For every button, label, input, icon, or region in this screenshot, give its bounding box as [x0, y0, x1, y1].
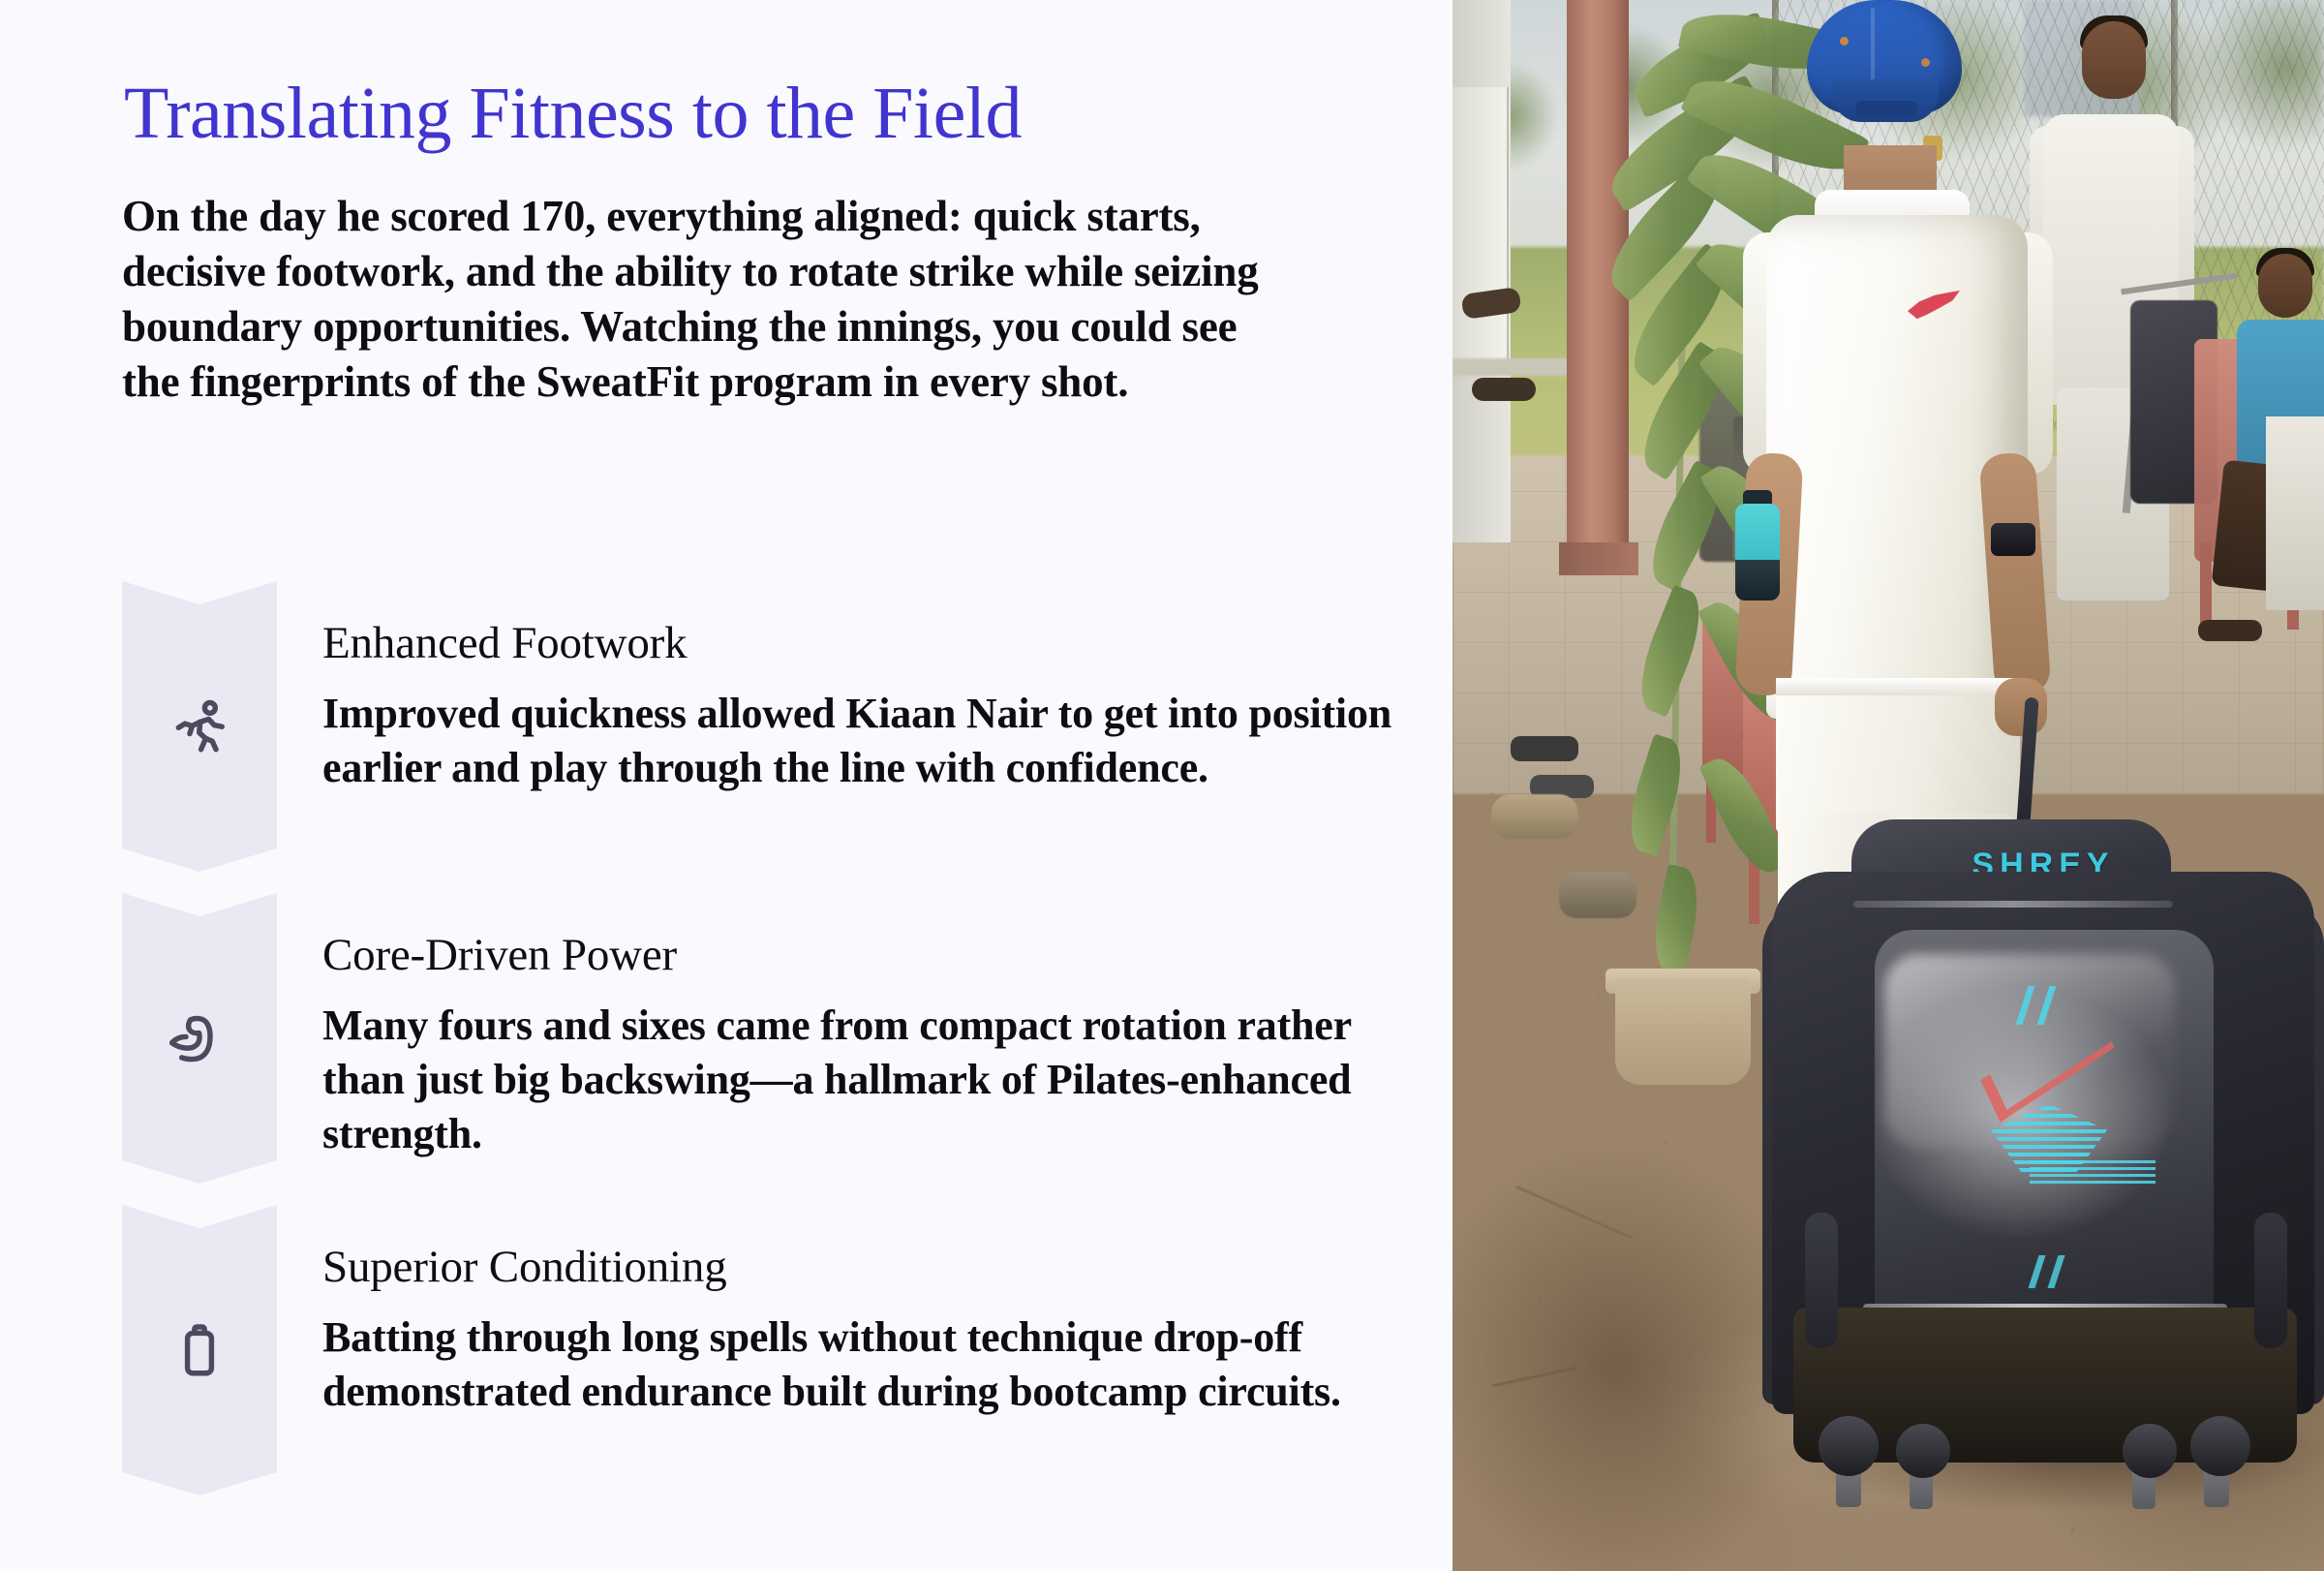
- slide-root: Translating Fitness to the Field On the …: [0, 0, 2324, 1571]
- photo-seated-man-head: [2258, 254, 2312, 318]
- feature-item-superior-conditioning: Superior Conditioning Batting through lo…: [122, 1205, 1410, 1495]
- feature-heading-1: Enhanced Footwork: [322, 618, 1410, 669]
- feature-item-enhanced-footwork: Enhanced Footwork Improved quickness all…: [122, 581, 1410, 872]
- photo-shoe-2: [1472, 378, 1536, 401]
- feature-badge-chevron-2: [122, 893, 277, 1184]
- photo-cap-strap: [1855, 101, 1917, 116]
- photo-bag-logo-bar: [2030, 1158, 2156, 1184]
- running-person-icon: [169, 696, 229, 756]
- photo-bag-wheel-3: [2123, 1424, 2177, 1478]
- photo-bag-wheel-2: [1896, 1424, 1950, 1478]
- photo-cap-eyelet-2: [1921, 58, 1930, 67]
- photo-seated-man-sandal: [2198, 620, 2262, 641]
- text-panel: Translating Fitness to the Field On the …: [0, 0, 1452, 1571]
- feature-text-2: Core-Driven Power Many fours and sixes c…: [277, 893, 1410, 1161]
- feature-list: Enhanced Footwork Improved quickness all…: [122, 581, 1410, 1517]
- photo-white-cabinet: [1452, 87, 1509, 368]
- photo-ledge: [1452, 358, 1569, 376]
- photo-bottle-base: [1735, 560, 1780, 601]
- feature-item-core-driven-power: Core-Driven Power Many fours and sixes c…: [122, 893, 1410, 1184]
- feature-body-1: Improved quickness allowed Kiaan Nair to…: [322, 687, 1397, 795]
- photo-flower-pot: [1615, 978, 1751, 1085]
- photo-bag-wheel-4: [2190, 1416, 2250, 1476]
- photo-bag-strap-left: [1805, 1213, 1838, 1348]
- feature-text-3: Superior Conditioning Batting through lo…: [277, 1205, 1410, 1419]
- photo-bag-wheel-1: [1819, 1416, 1879, 1476]
- photo-bag-strap-right: [2254, 1213, 2287, 1348]
- photo-cap-eyelet-1: [1840, 37, 1849, 46]
- battery-icon: [169, 1320, 229, 1380]
- photo-player-hand: [1995, 678, 2047, 736]
- photo-bag-zip-top: [1853, 901, 2173, 908]
- photo-player-hips: [1776, 678, 2020, 833]
- photo-chair-leg-3a: [2200, 542, 2212, 630]
- photo-pillar-base: [1559, 542, 1638, 575]
- feature-body-3: Batting through long spells without tech…: [322, 1310, 1397, 1419]
- cricket-photo: SHREY: [1452, 0, 2324, 1571]
- flexed-biceps-icon: [169, 1008, 229, 1068]
- lead-paragraph: On the day he scored 170, everything ali…: [122, 189, 1270, 410]
- photo-wristwatch: [1991, 523, 2035, 556]
- photo-standing-boy-head: [2082, 21, 2146, 99]
- photo-white-block: [2266, 416, 2324, 610]
- feature-body-2: Many fours and sixes came from compact r…: [322, 999, 1397, 1161]
- feature-heading-2: Core-Driven Power: [322, 930, 1410, 981]
- photo-player-waistband: [1776, 678, 2020, 695]
- feature-heading-3: Superior Conditioning: [322, 1242, 1410, 1293]
- feature-text-1: Enhanced Footwork Improved quickness all…: [277, 581, 1410, 795]
- page-title: Translating Fitness to the Field: [124, 76, 1383, 152]
- feature-badge-chevron-3: [122, 1205, 277, 1495]
- feature-badge-chevron-1: [122, 581, 277, 872]
